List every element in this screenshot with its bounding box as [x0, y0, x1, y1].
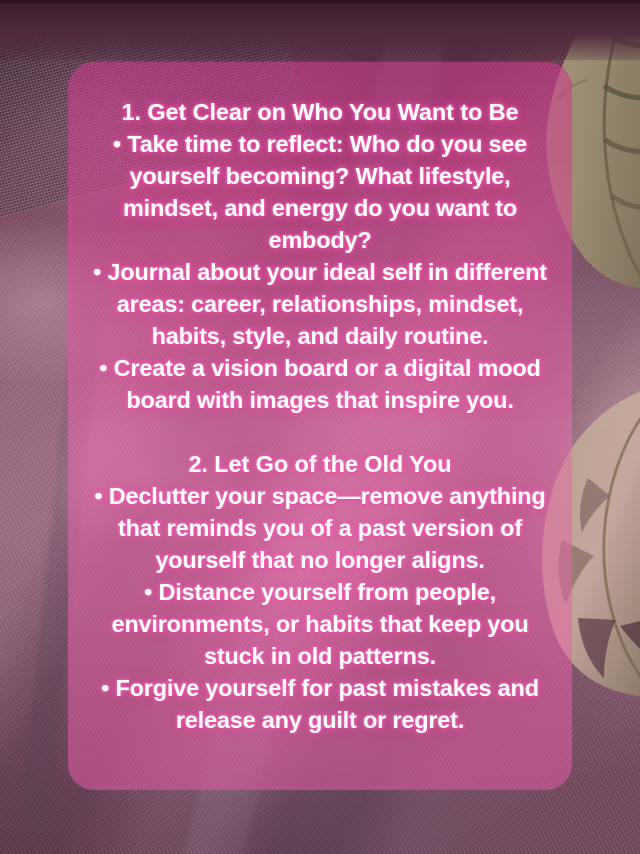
section-2-line-7: • Forgive yourself for past mistakes and — [86, 672, 554, 704]
section-2-line-2: that reminds you of a past version of — [86, 512, 554, 544]
section-1-line-3: mindset, and energy do you want to — [86, 192, 554, 224]
section-1-line-9: board with images that inspire you. — [86, 384, 554, 416]
section-1-line-5: • Journal about your ideal self in diffe… — [86, 256, 554, 288]
section-1-line-6: areas: career, relationships, mindset, — [86, 288, 554, 320]
section-1-line-1: • Take time to reflect: Who do you see — [86, 128, 554, 160]
section-2-heading: 2. Let Go of the Old You — [86, 448, 554, 480]
background-top-edge — [0, 0, 640, 3]
section-2-line-3: yourself that no longer aligns. — [86, 544, 554, 576]
section-1-heading: 1. Get Clear on Who You Want to Be — [86, 96, 554, 128]
section-gap — [86, 416, 554, 448]
section-1-line-7: habits, style, and daily routine. — [86, 320, 554, 352]
section-1-line-4: embody? — [86, 224, 554, 256]
section-2-line-8: release any guilt or regret. — [86, 704, 554, 736]
text-overlay-card: 1. Get Clear on Who You Want to Be • Tak… — [68, 62, 572, 790]
section-2-line-1: • Declutter your space—remove anything — [86, 480, 554, 512]
section-1-line-8: • Create a vision board or a digital moo… — [86, 352, 554, 384]
section-2-line-5: environments, or habits that keep you — [86, 608, 554, 640]
section-2-line-4: • Distance yourself from people, — [86, 576, 554, 608]
card-text-content: 1. Get Clear on Who You Want to Be • Tak… — [86, 96, 554, 736]
background-top-band — [0, 0, 640, 60]
screenshot-canvas: 1. Get Clear on Who You Want to Be • Tak… — [0, 0, 640, 854]
section-2-line-6: stuck in old patterns. — [86, 640, 554, 672]
section-1-line-2: yourself becoming? What lifestyle, — [86, 160, 554, 192]
